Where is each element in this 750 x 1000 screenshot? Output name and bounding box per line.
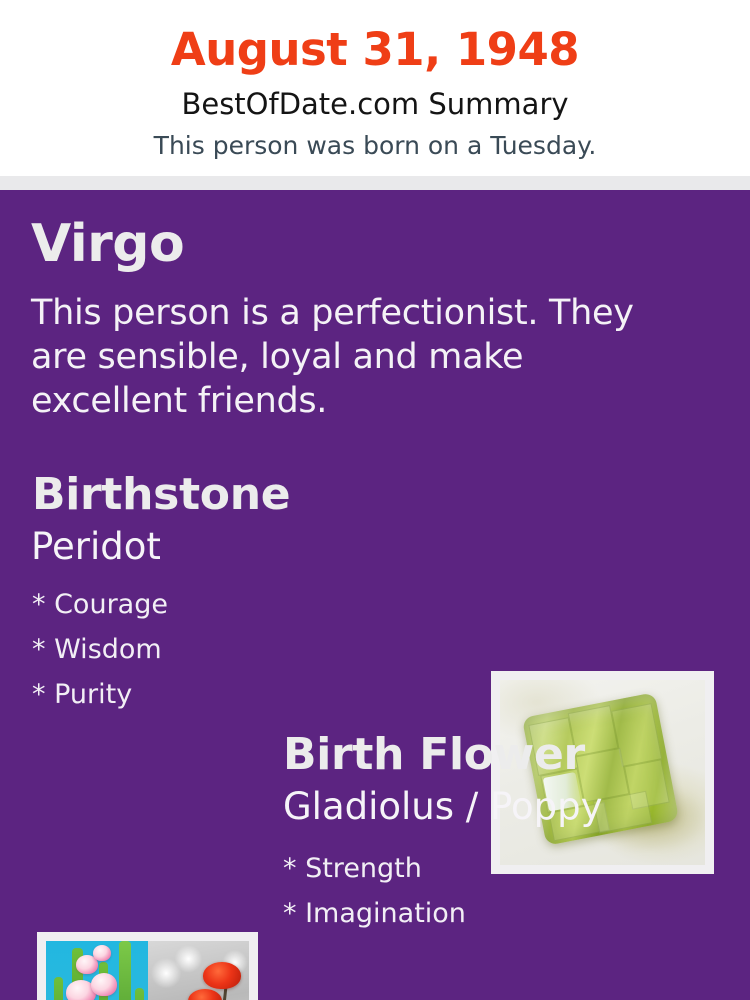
list-item: * Courage bbox=[32, 582, 168, 627]
birthstone-heading: Birthstone bbox=[32, 473, 290, 517]
birthstone-traits-list: * Courage * Wisdom * Purity bbox=[32, 582, 168, 717]
gladiolus-photo-half bbox=[46, 941, 148, 1000]
zodiac-sign-name: Virgo bbox=[31, 218, 184, 270]
list-item: * Strength bbox=[283, 846, 466, 891]
site-summary-label: BestOfDate.com Summary bbox=[0, 72, 750, 119]
birth-flower-image bbox=[37, 932, 258, 1000]
birthday-summary-card: August 31, 1948 BestOfDate.com Summary T… bbox=[0, 0, 750, 1000]
list-item: * Imagination bbox=[283, 891, 466, 936]
birth-weekday-text: This person was born on a Tuesday. bbox=[0, 119, 750, 158]
birthstone-name: Peridot bbox=[31, 528, 161, 565]
summary-body: Virgo This person is a perfectionist. Th… bbox=[0, 190, 750, 1000]
birth-flower-traits-list: * Strength * Imagination bbox=[283, 846, 466, 936]
poppy-photo-half bbox=[148, 941, 250, 1000]
birth-flower-image-inner bbox=[46, 941, 249, 1000]
birth-flower-name: Gladiolus / Poppy bbox=[283, 788, 603, 825]
zodiac-description: This person is a perfectionist. They are… bbox=[31, 291, 671, 423]
card-header: August 31, 1948 BestOfDate.com Summary T… bbox=[0, 0, 750, 176]
header-divider bbox=[0, 176, 750, 190]
birth-flower-heading: Birth Flower bbox=[283, 733, 585, 777]
list-item: * Wisdom bbox=[32, 627, 168, 672]
page-title: August 31, 1948 bbox=[0, 0, 750, 72]
list-item: * Purity bbox=[32, 672, 168, 717]
